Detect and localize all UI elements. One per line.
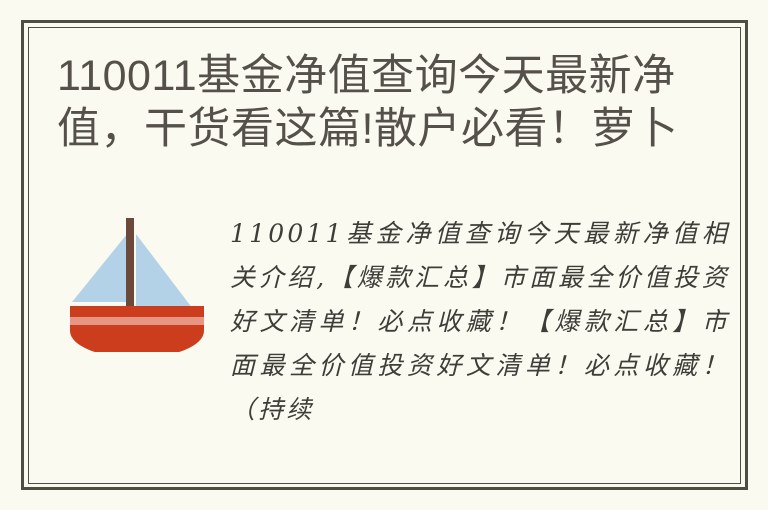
article-body-text: 110011基金净值查询今天最新净值相关介绍,【爆款汇总】市面最全价值投资好文清… <box>230 212 730 432</box>
article-content: 110011基金净值查询今天最新净值相关介绍,【爆款汇总】市面最全价值投资好文清… <box>29 200 740 483</box>
hull-stripe-shape <box>70 317 204 325</box>
sailboat-icon <box>68 216 206 352</box>
right-sail-shape <box>136 234 193 309</box>
title-band: 110011基金净值查询今天最新净 值，干货看这篇!散户必看！萝卜 <box>29 44 740 169</box>
article-page: 110011基金净值查询今天最新净 值，干货看这篇!散户必看！萝卜 110011… <box>0 0 768 510</box>
mast-shape <box>126 218 134 314</box>
left-sail-shape <box>72 234 127 302</box>
sailboat-svg <box>68 216 206 352</box>
hull-body-shape <box>70 325 204 352</box>
page-title: 110011基金净值查询今天最新净 值，干货看这篇!散户必看！萝卜 <box>57 50 717 156</box>
hull-deck-shape <box>70 306 204 317</box>
